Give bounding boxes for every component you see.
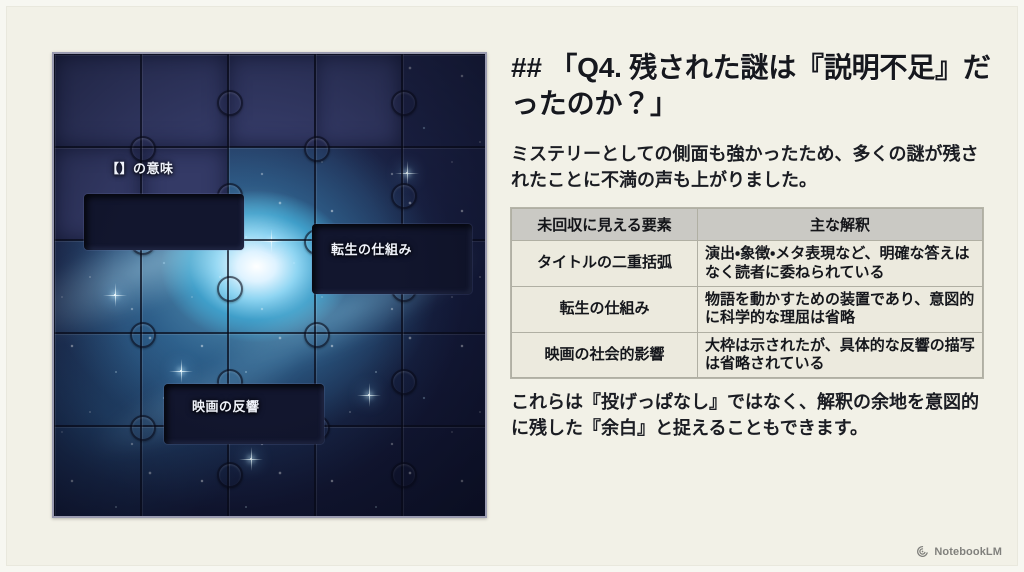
table-row: タイトルの二重括弧 演出・象徴・メタ表現など、明確な答えはなく読者に委ねられてい… <box>512 241 983 287</box>
closing-paragraph: これらは『投げっぱなし』ではなく、解釈の余地を意図的に残した『余白』と捉えること… <box>511 389 991 442</box>
page-title: ## 「Q4. 残された謎は『説明不足』だったのか？」 <box>511 50 991 123</box>
bright-star <box>270 240 272 242</box>
jigsaw-galaxy-illustration: 【】の意味 転生の仕組み 映画の反響 <box>52 52 487 518</box>
notebooklm-spiral-icon <box>916 545 929 558</box>
missing-piece-label-title-brackets: 【】の意味 <box>106 158 174 177</box>
missing-piece-hole <box>312 224 472 294</box>
puzzle-piece <box>314 54 401 147</box>
column-header-reading: 主な解釈 <box>698 209 983 241</box>
missing-piece-label-movie-response: 映画の反響 <box>192 396 260 415</box>
cell-factor: 映画の社会的影響 <box>512 332 698 378</box>
notebooklm-watermark: NotebookLM <box>916 545 1002 558</box>
table-row: 映画の社会的影響 大枠は示されたが、具体的な反響の描写は省略されている <box>512 332 983 378</box>
column-header-factor: 未回収に見える要素 <box>512 209 698 241</box>
watermark-label: NotebookLM <box>934 546 1002 558</box>
cell-reading: 大枠は示されたが、具体的な反響の描写は省略されている <box>698 332 983 378</box>
bright-star <box>180 370 182 372</box>
cell-factor: 転生の仕組み <box>512 286 698 332</box>
cell-reading: 演出・象徴・メタ表現など、明確な答えはなく読者に委ねられている <box>698 241 983 287</box>
lead-paragraph: ミステリーとしての側面も強かったため、多くの謎が残されたことに不満の声も上がりま… <box>511 141 991 194</box>
content-column: ## 「Q4. 残された謎は『説明不足』だったのか？」 ミステリーとしての側面も… <box>511 50 991 442</box>
table-header-row: 未回収に見える要素 主な解釈 <box>512 209 983 241</box>
bright-star <box>368 394 370 396</box>
interpretation-table: 未回収に見える要素 主な解釈 タイトルの二重括弧 演出・象徴・メタ表現など、明確… <box>511 208 983 378</box>
cell-factor: タイトルの二重括弧 <box>512 241 698 287</box>
bright-star <box>406 172 408 174</box>
bright-star <box>114 294 116 296</box>
bright-star <box>250 458 252 460</box>
slide-canvas: 【】の意味 転生の仕組み 映画の反響 ## 「Q4. 残された謎は『説明不足』だ… <box>0 0 1024 572</box>
table-row: 転生の仕組み 物語を動かすための装置であり、意図的に科学的な理屈は省略 <box>512 286 983 332</box>
missing-piece-label-reincarnation: 転生の仕組み <box>331 239 412 258</box>
puzzle-piece <box>54 54 227 147</box>
cell-reading: 物語を動かすための装置であり、意図的に科学的な理屈は省略 <box>698 286 983 332</box>
missing-piece-hole <box>84 194 244 250</box>
